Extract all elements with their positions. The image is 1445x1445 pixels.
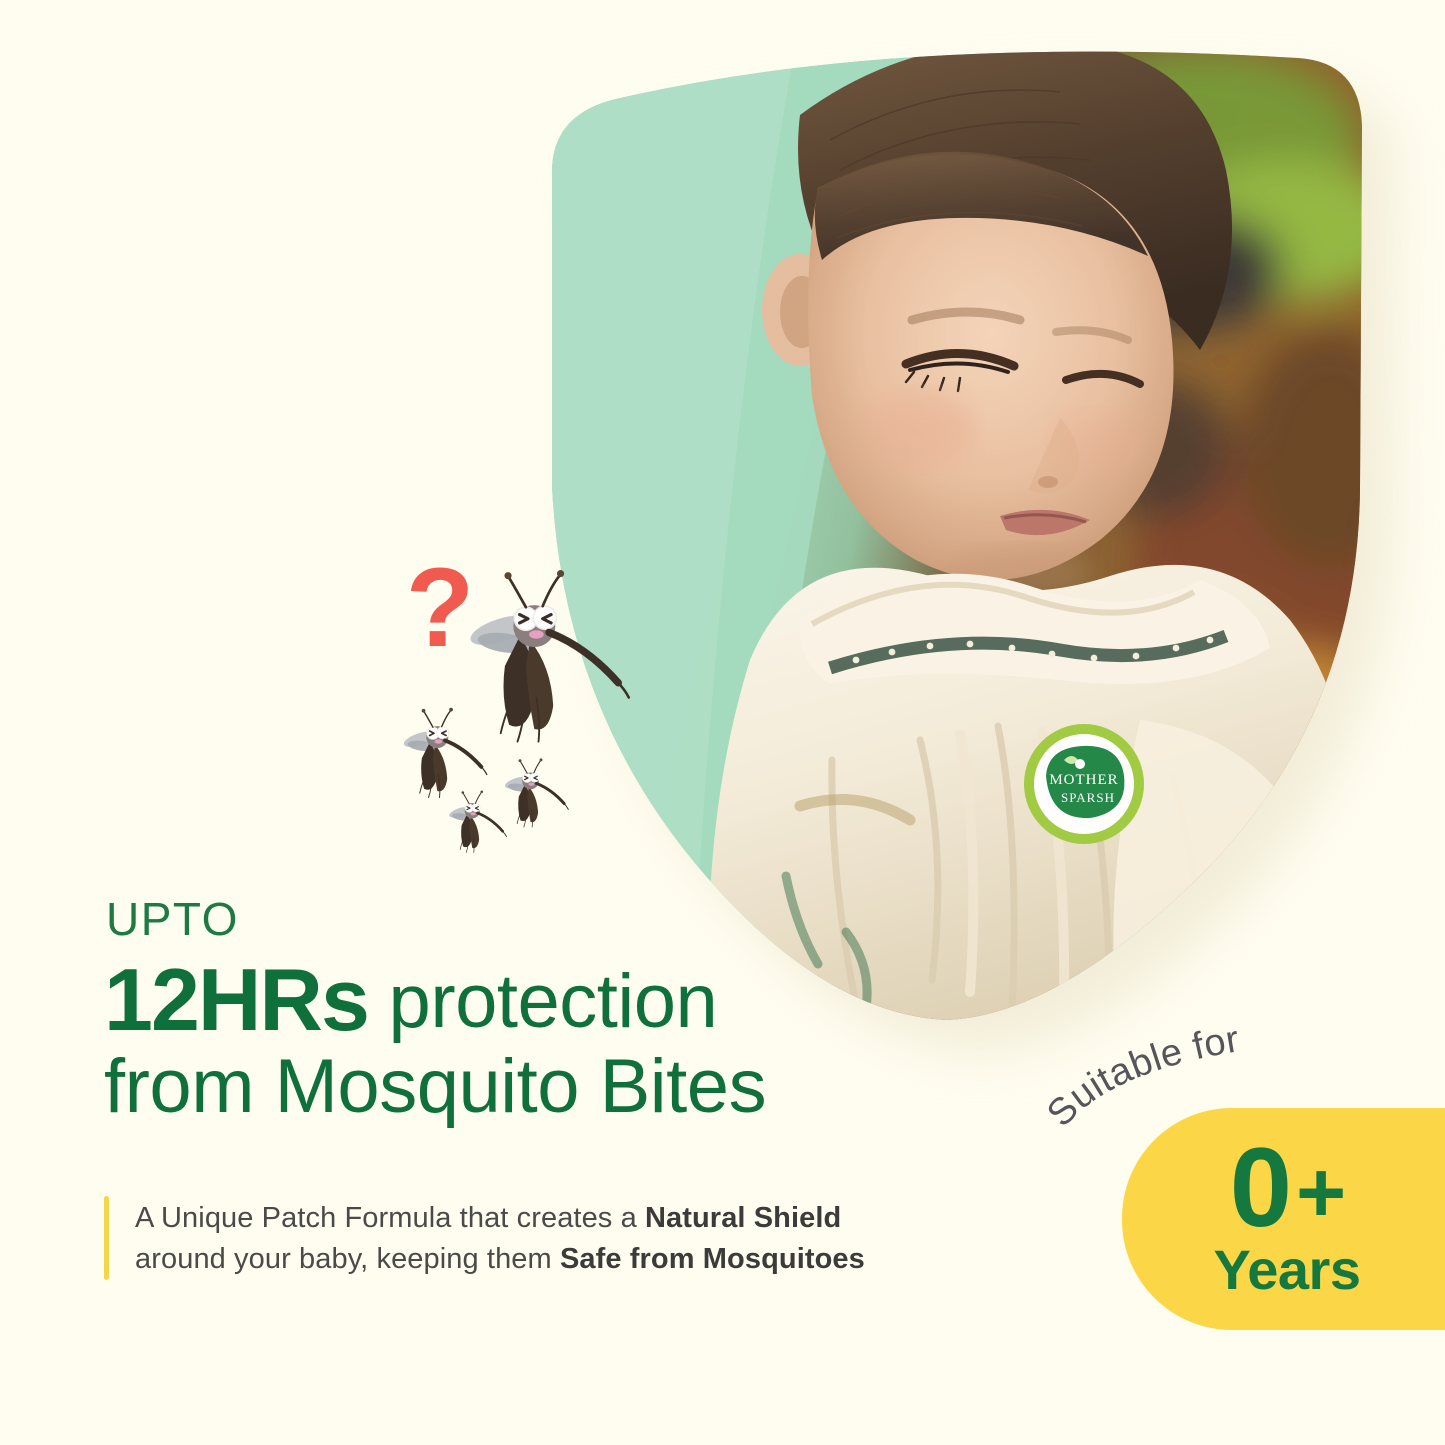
headline-line1-rest: protection xyxy=(368,959,717,1044)
headline-hours: 12HRs xyxy=(104,955,368,1045)
shield-photo-container: MOTHER SPARSH xyxy=(500,20,1420,1030)
subtext-block: A Unique Patch Formula that creates a Na… xyxy=(104,1196,874,1280)
accent-bar xyxy=(104,1196,109,1280)
mosquito-large xyxy=(467,570,629,742)
age-badge: 0+ Years xyxy=(1122,1108,1445,1330)
poster-canvas: MOTHER SPARSH xyxy=(0,0,1445,1445)
age-number: 0 xyxy=(1230,1140,1290,1236)
mosquito-small-bottom xyxy=(448,790,506,852)
mosquito-small-right xyxy=(504,758,569,827)
subtext-bold1: Natural Shield xyxy=(645,1202,841,1234)
headline-block: UPTO 12HRs protection from Mosquito Bite… xyxy=(104,896,894,1125)
subtext-part2: around your baby, keeping them xyxy=(135,1243,560,1275)
subtext-part1: A Unique Patch Formula that creates a xyxy=(135,1202,645,1234)
headline-line2: from Mosquito Bites xyxy=(104,1048,894,1126)
page-title: 12HRs protection from Mosquito Bites xyxy=(104,952,894,1125)
subtext-paragraph: A Unique Patch Formula that creates a Na… xyxy=(135,1196,874,1280)
age-plus-sign: + xyxy=(1296,1157,1344,1231)
shield-photo-content: MOTHER SPARSH xyxy=(500,20,1420,1030)
question-mark-icon: ? xyxy=(406,548,474,670)
mosquito-medium xyxy=(402,708,487,798)
subtext-bold2: Safe from Mosquitoes xyxy=(560,1243,865,1275)
age-badge-content: 0+ Years xyxy=(1122,1108,1445,1330)
shield-photo-svg: MOTHER SPARSH xyxy=(500,20,1420,1030)
age-unit-label: Years xyxy=(1214,1242,1361,1298)
shield-image-clip: MOTHER SPARSH xyxy=(500,20,1420,1030)
headline-eyebrow: UPTO xyxy=(106,896,894,942)
age-value-row: 0+ xyxy=(1230,1140,1345,1236)
mosquito-illustration-group: ? xyxy=(378,548,668,858)
svg-text:?: ? xyxy=(406,548,474,670)
